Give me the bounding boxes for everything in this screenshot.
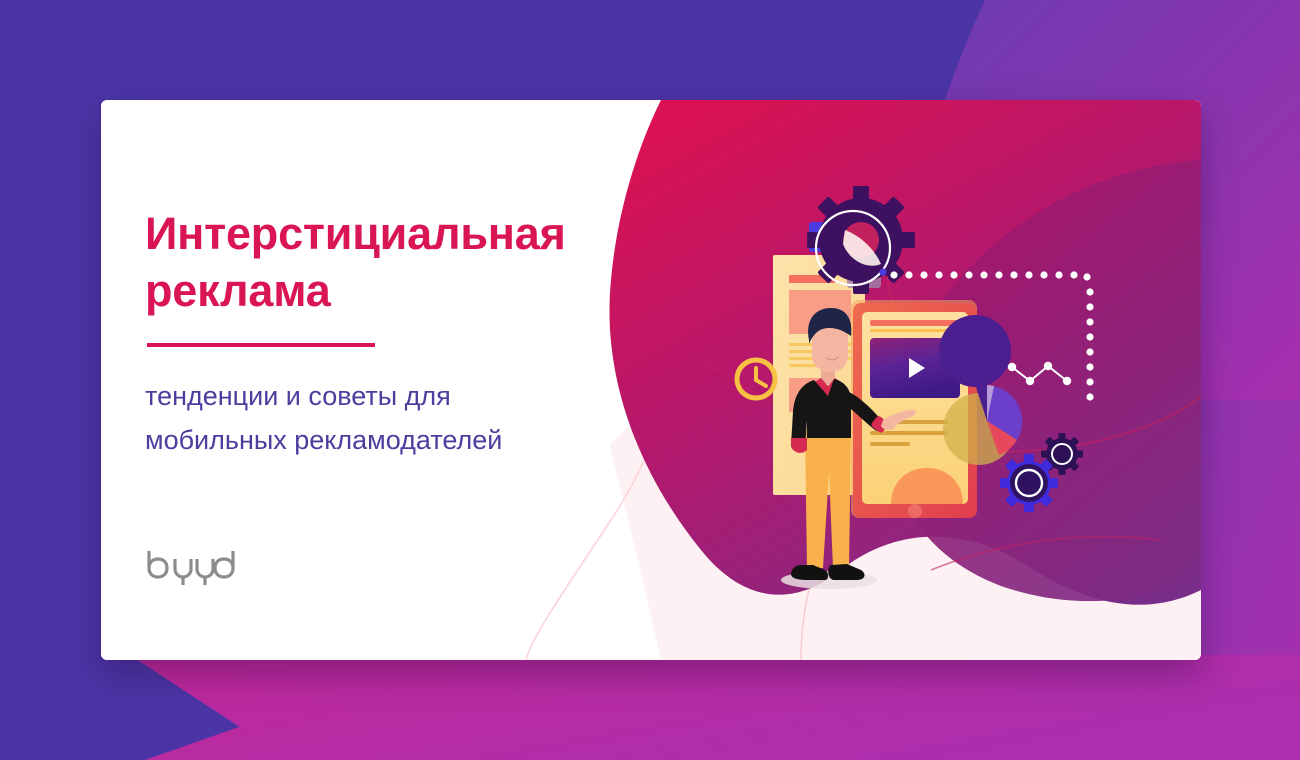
page-title: Интерстициальная реклама [145, 205, 705, 319]
slide-card: Интерстициальная реклама тенденции и сов… [101, 100, 1201, 660]
title-divider [147, 343, 375, 347]
page-subtitle-line-2: мобильных рекламодателей [145, 425, 502, 455]
gear-small-a-icon [1000, 454, 1058, 512]
gear-large-icon [807, 186, 915, 294]
page-title-line-1: Интерстициальная [145, 208, 566, 259]
brand-logo [145, 548, 237, 588]
page-subtitle-line-1: тенденции и советы для [145, 381, 451, 411]
text-column: Интерстициальная реклама тенденции и сов… [145, 205, 705, 463]
page-title-line-2: реклама [145, 265, 331, 316]
page-subtitle: тенденции и советы для мобильных рекламо… [145, 375, 705, 462]
bg-magenta-shape-b [130, 655, 1300, 760]
byyd-logo-icon [145, 548, 237, 588]
